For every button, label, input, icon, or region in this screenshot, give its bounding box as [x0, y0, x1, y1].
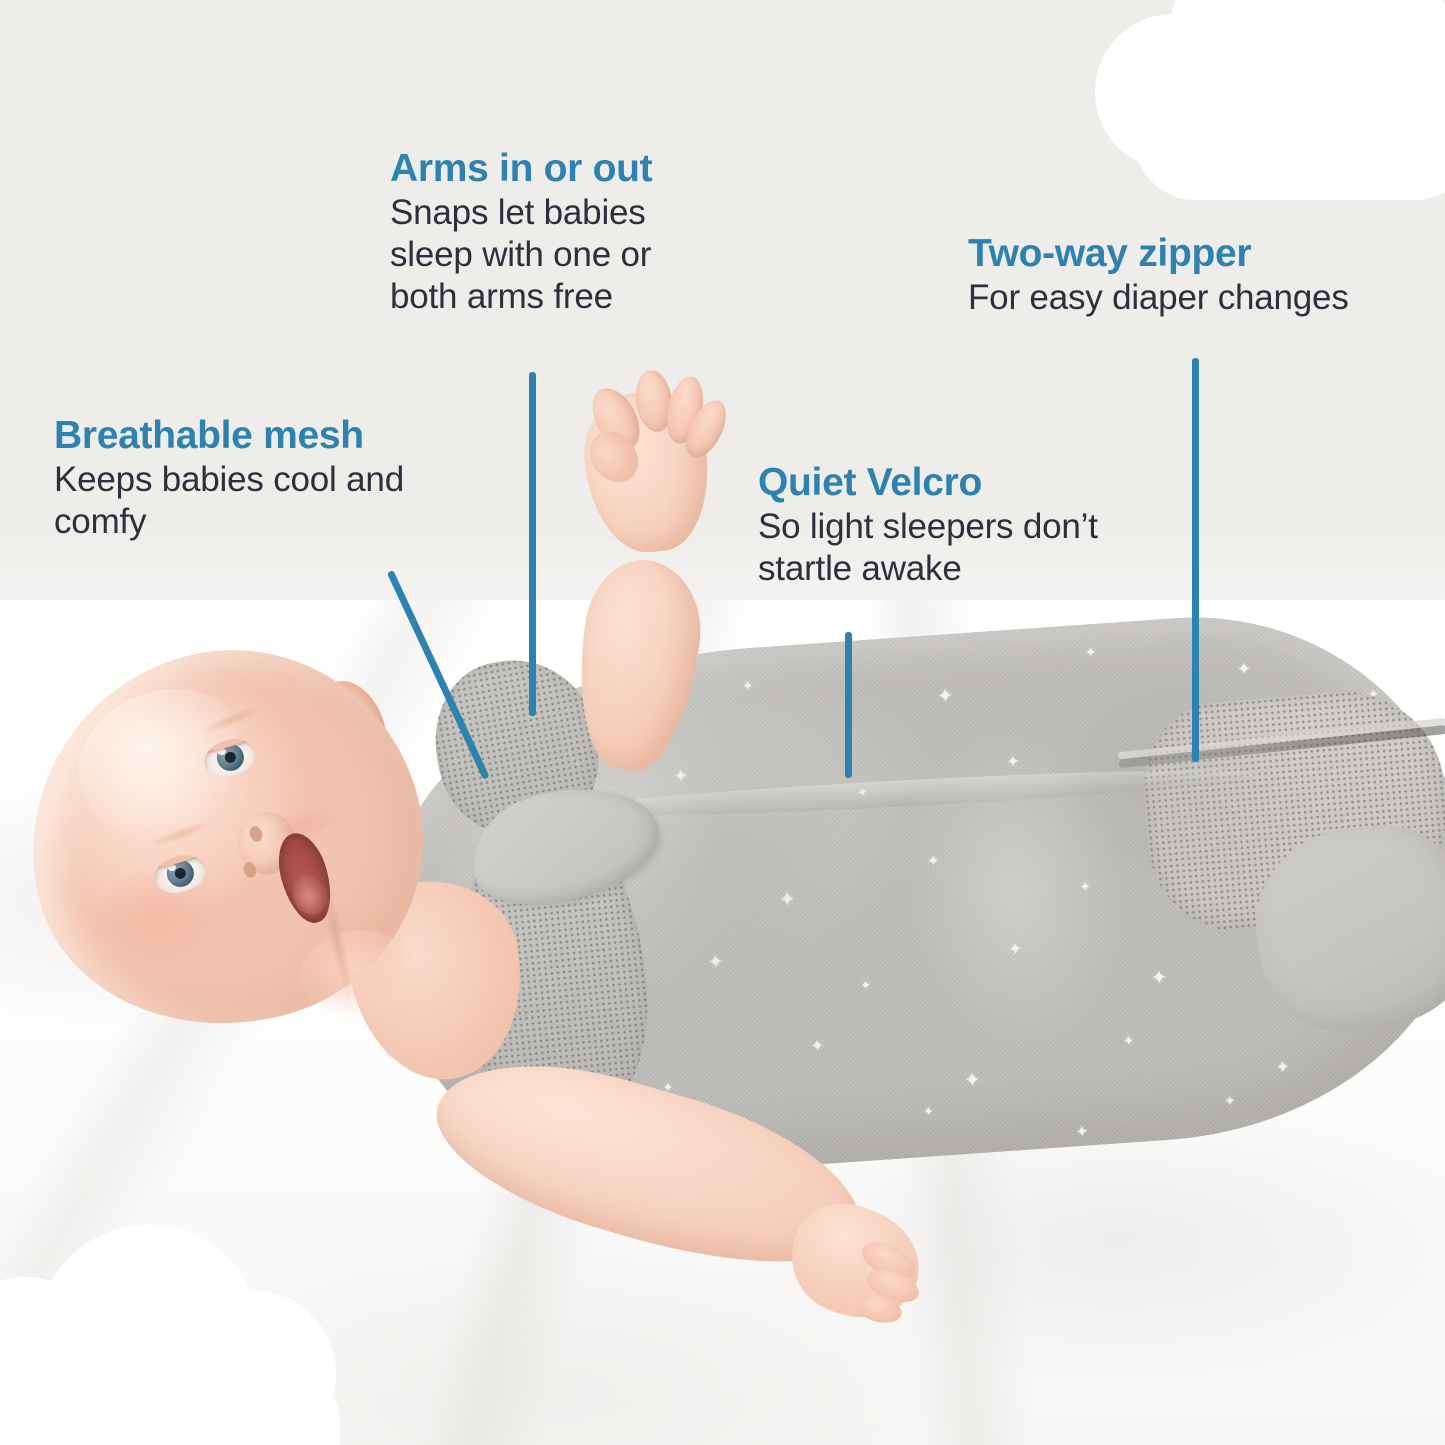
- callout-mesh-heading: Breathable mesh: [54, 415, 474, 457]
- callout-zipper: Two-way zipper For easy diaper changes: [968, 233, 1438, 319]
- callout-arms-body: Snaps let babies sleep with one or both …: [390, 192, 720, 318]
- callout-mesh-body: Keeps babies cool and comfy: [54, 459, 474, 543]
- callout-velcro: Quiet Velcro So light sleepers don’t sta…: [758, 462, 1128, 590]
- callout-arms-heading: Arms in or out: [390, 148, 720, 190]
- leader-line-zipper: [1192, 358, 1199, 762]
- callout-mesh: Breathable mesh Keeps babies cool and co…: [54, 415, 474, 543]
- cloud-decoration-bottom-left: [0, 1225, 340, 1445]
- callout-velcro-heading: Quiet Velcro: [758, 462, 1128, 504]
- leader-line-arms: [529, 372, 536, 716]
- callout-velcro-body: So light sleepers don’t startle awake: [758, 506, 1128, 590]
- callout-zipper-body: For easy diaper changes: [968, 277, 1438, 319]
- callout-zipper-heading: Two-way zipper: [968, 233, 1438, 275]
- infographic-canvas: ✦✦✦✦✦✦✦✦✦✦✦✦✦✦✦✦✦✦✦✦✦✦✦✦✦✦✦✦✦✦✦✦✦✦✦✦✦: [0, 0, 1445, 1445]
- cloud-decoration-top-right: [1095, 0, 1445, 180]
- callout-arms: Arms in or out Snaps let babies sleep wi…: [390, 148, 720, 318]
- baby-chin: [300, 930, 420, 1020]
- leader-line-velcro: [845, 632, 852, 778]
